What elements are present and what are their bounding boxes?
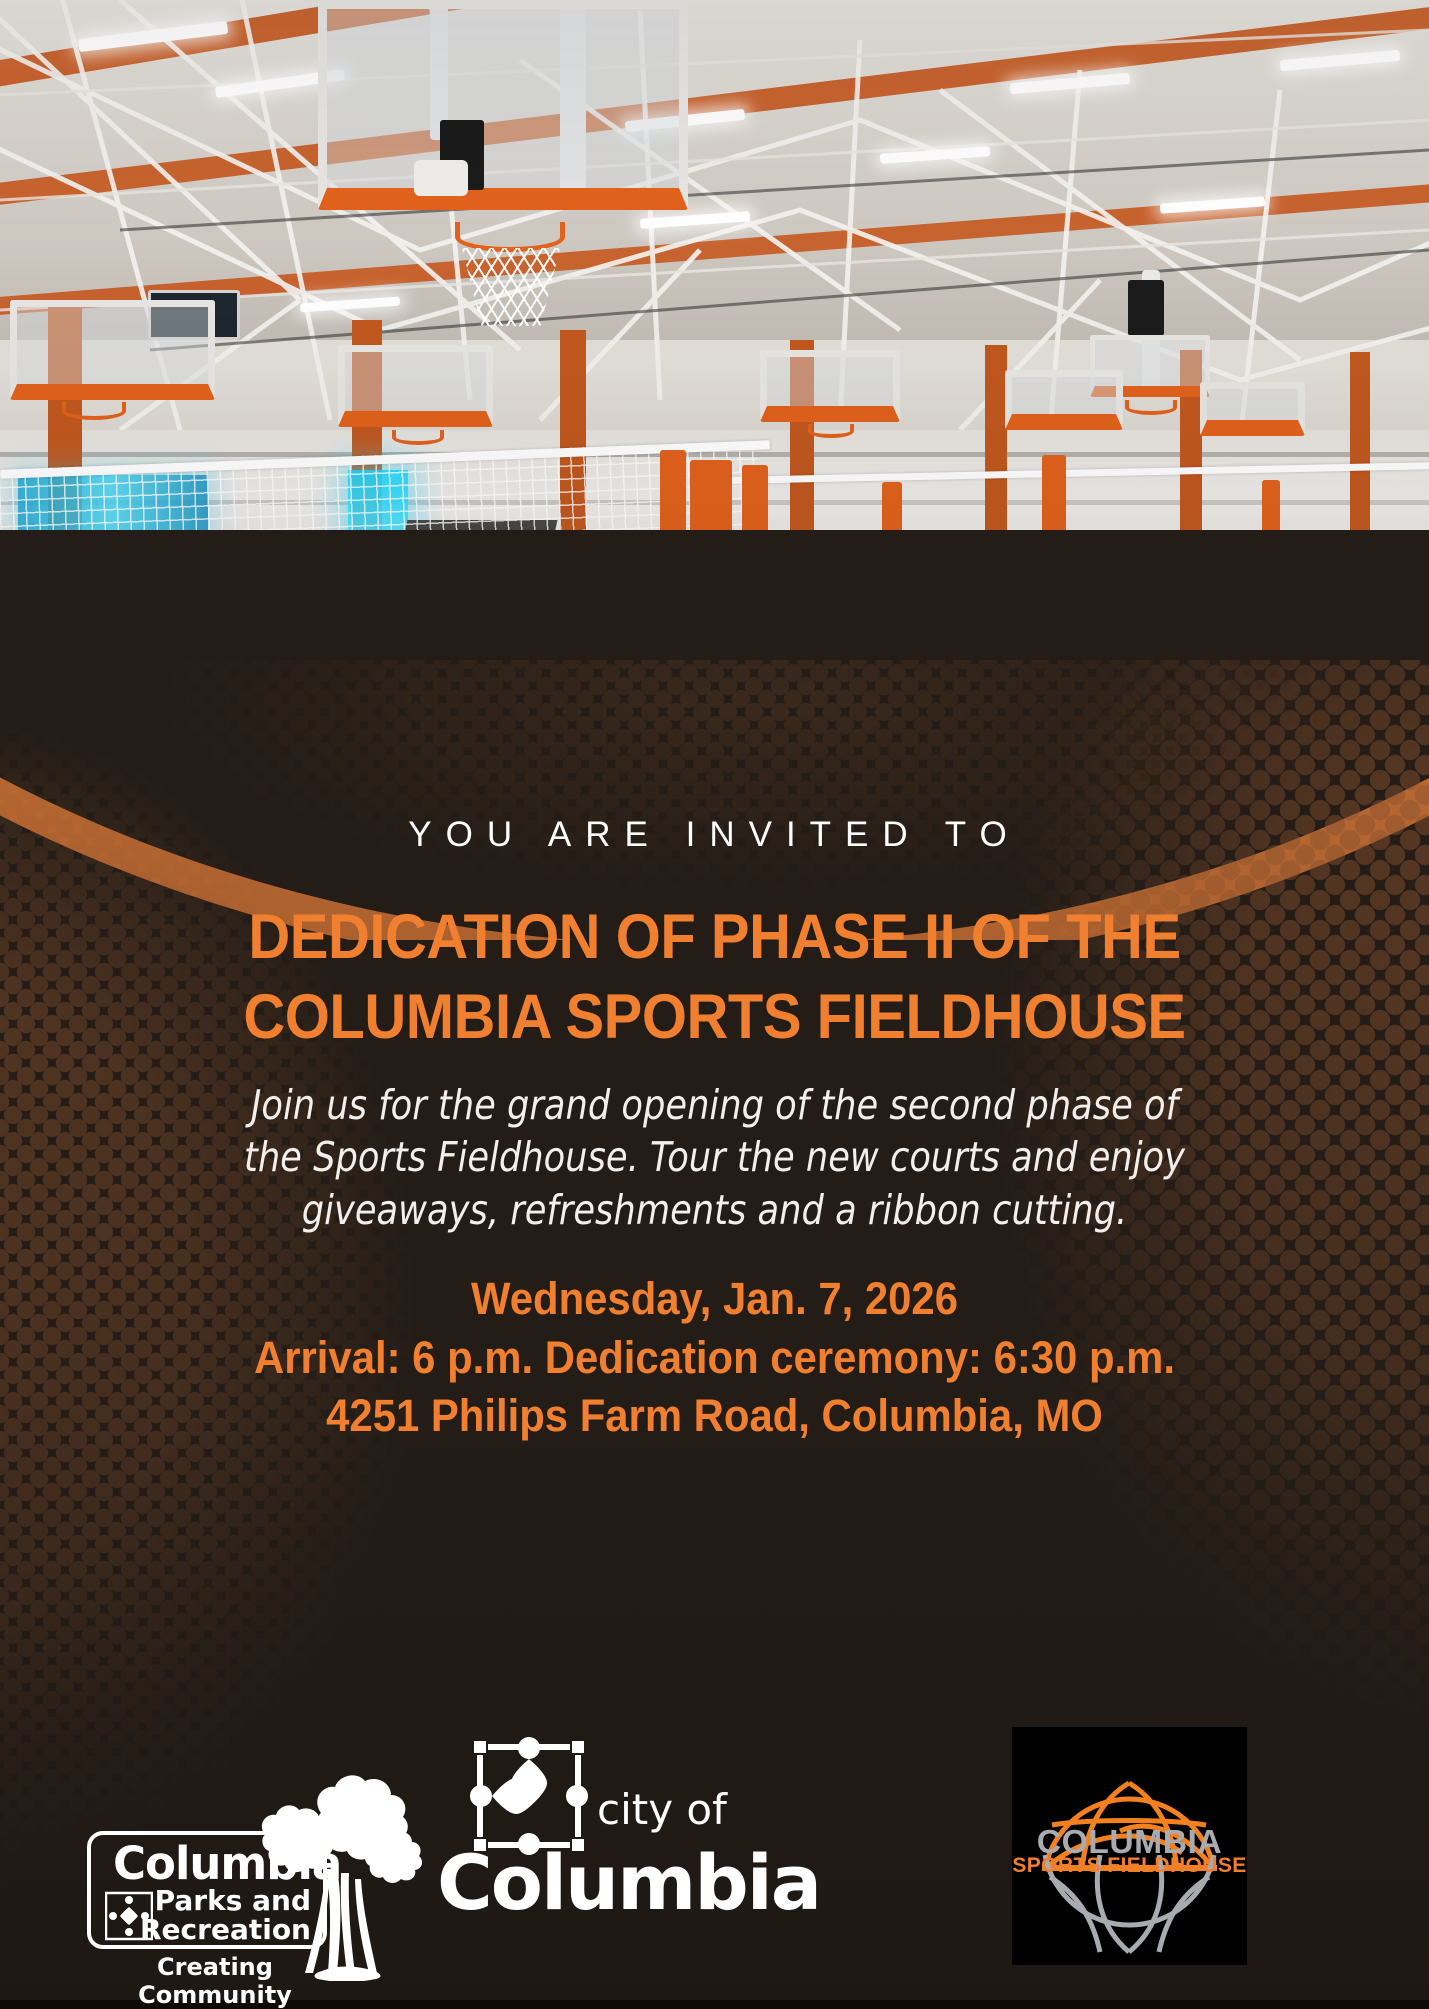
kicker-text: YOU ARE INVITED TO [0,815,1429,855]
city-of-label: city of [597,1789,727,1831]
parks-logo-subtitle: Parks and Recreation [140,1887,311,1944]
event-details: Wednesday, Jan. 7, 2026 Arrival: 6 p.m. … [50,1270,1379,1446]
event-description: Join us for the grand opening of the sec… [100,1079,1329,1236]
logo-row: Columbia Parks and Recreation Creating C… [0,1715,1429,2000]
description-line-3: giveaways, refreshments and a ribbon cut… [100,1184,1329,1236]
parks-logo-columbia: Columbia [113,1841,341,1886]
parks-logo-line-parks: Parks and [140,1887,311,1916]
description-line-2: the Sports Fieldhouse. Tour the new cour… [100,1131,1329,1183]
parks-logo-line-recreation: Recreation [140,1916,311,1945]
headline-line-1: DEDICATION OF PHASE II OF THE [57,897,1372,977]
event-times: Arrival: 6 p.m. Dedication ceremony: 6:3… [50,1329,1379,1388]
description-line-1: Join us for the grand opening of the sec… [100,1079,1329,1131]
logo-city-of-columbia: city of Columbia [437,1737,767,1987]
city-columbia-label: Columbia [437,1845,767,1921]
parks-people-mark-icon [105,1891,153,1941]
event-address: 4251 Philips Farm Road, Columbia, MO [50,1387,1379,1446]
fieldhouse-logo-sports-fieldhouse: SPORTS FIELDHOUSE [1012,1855,1247,1876]
page-title: DEDICATION OF PHASE II OF THE COLUMBIA S… [57,897,1372,1057]
invitation-content: YOU ARE INVITED TO DEDICATION OF PHASE I… [0,660,1429,1446]
parks-sign-frame: Columbia Parks and Recreation [87,1831,327,1949]
logo-columbia-sports-fieldhouse: COLUMBIA SPORTS FIELDHOUSE [1012,1727,1247,1965]
parks-logo-tagline: Creating Community [85,1953,345,2009]
event-date: Wednesday, Jan. 7, 2026 [50,1270,1379,1329]
headline-line-2: COLUMBIA SPORTS FIELDHOUSE [57,977,1372,1057]
fieldhouse-logo-inner: COLUMBIA SPORTS FIELDHOUSE [1012,1727,1247,1965]
logo-columbia-parks-and-recreation: Columbia Parks and Recreation Creating C… [75,1743,405,1983]
